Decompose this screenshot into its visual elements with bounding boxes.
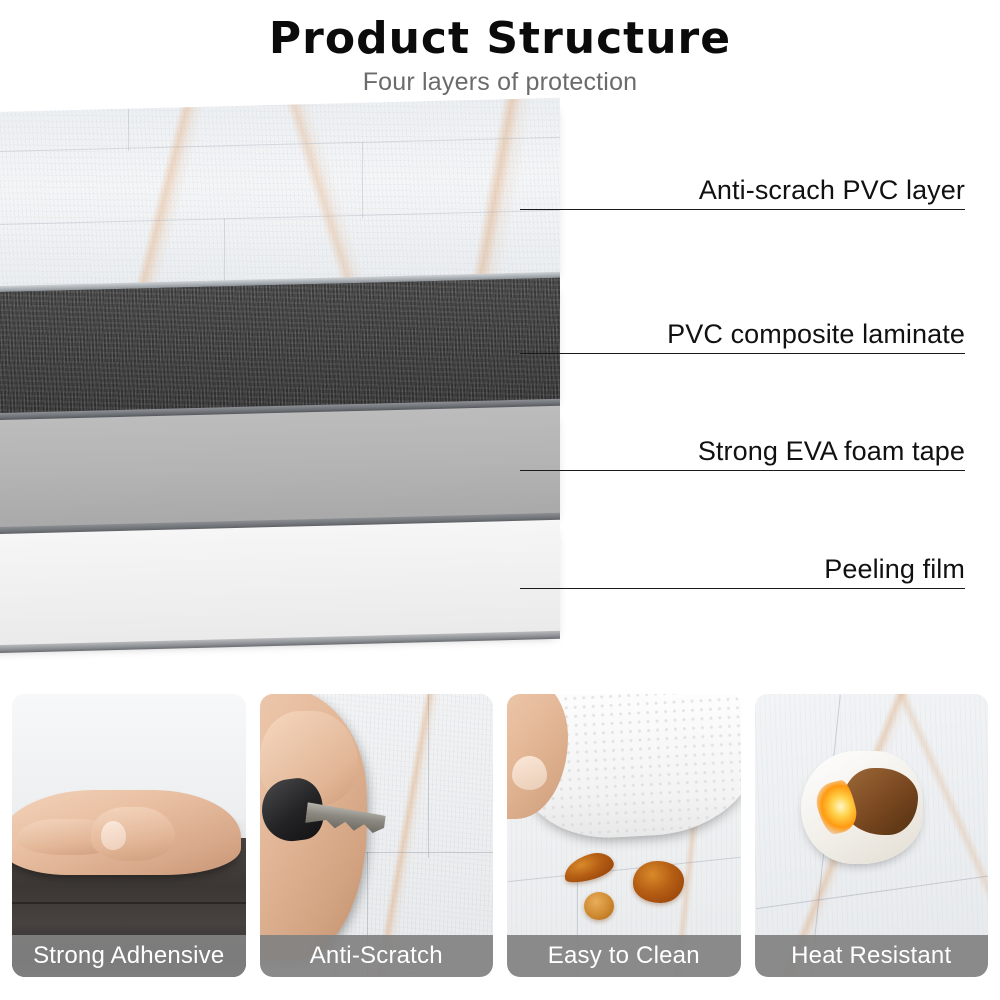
leader-line (520, 588, 965, 589)
feature-card-heat-resistant[interactable]: Heat Resistant (755, 694, 989, 977)
fingernail-shape (101, 821, 127, 849)
tile-seam (224, 218, 225, 281)
feature-caption-heat-resistant: Heat Resistant (755, 935, 989, 977)
tile-seam (0, 210, 560, 226)
feature-caption-easy-to-clean: Easy to Clean (507, 935, 741, 977)
callout-pvc-composite-laminate: PVC composite laminate (520, 353, 965, 354)
product-layer-stack-diagram: Anti-scrach PVC layer PVC composite lami… (0, 105, 1000, 680)
feature-card-easy-to-clean[interactable]: Easy to Clean (507, 694, 741, 977)
header: Product Structure Four layers of protect… (0, 0, 1000, 110)
layer-slab-peeling-film (0, 535, 560, 647)
callout-label-anti-scratch-pvc: Anti-scrach PVC layer (699, 175, 965, 206)
callout-label-eva-foam-tape: Strong EVA foam tape (698, 436, 965, 467)
page-title: Product Structure (0, 0, 1000, 62)
leader-line (520, 209, 965, 210)
feature-card-strong-adhensive[interactable]: Strong Adhensive (12, 694, 246, 977)
sauce-stain (561, 849, 617, 888)
fingernail-shape (512, 756, 547, 790)
layer-slab-eva-foam-tape (0, 421, 560, 529)
feature-caption-strong-adhensive: Strong Adhensive (12, 935, 246, 977)
layer-face-peeling-film (0, 520, 560, 647)
layer-slab-anti-scratch-pvc (0, 113, 560, 288)
burnt-paper-shape (843, 768, 918, 836)
feature-card-anti-scratch[interactable]: Anti-Scratch (260, 694, 494, 977)
layer-face-anti-scratch-pvc (0, 98, 560, 288)
layer-face-eva-foam-tape (0, 406, 560, 529)
sauce-stain (633, 861, 684, 903)
tile-seam (756, 876, 987, 909)
layer-slab-pvc-composite-laminate (0, 293, 560, 415)
callout-label-peeling-film: Peeling film (824, 554, 965, 585)
callout-peeling-film: Peeling film (520, 588, 965, 589)
callout-anti-scratch-pvc: Anti-scrach PVC layer (520, 209, 965, 210)
feature-caption-anti-scratch: Anti-Scratch (260, 935, 494, 977)
leader-line (520, 353, 965, 354)
tile-seam (362, 141, 363, 218)
page-subtitle: Four layers of protection (0, 62, 1000, 97)
feature-thumbnail-grid: Strong Adhensive Anti-Scratch Easy to Cl… (12, 694, 988, 977)
callout-eva-foam-tape: Strong EVA foam tape (520, 470, 965, 471)
tile-seam (508, 857, 740, 882)
tile-seam (428, 694, 429, 858)
leader-line (520, 470, 965, 471)
callout-label-pvc-composite-laminate: PVC composite laminate (667, 319, 965, 350)
layer-face-pvc-composite-laminate (0, 278, 560, 415)
sauce-stain (584, 892, 614, 920)
tile-seam (0, 136, 560, 152)
tile-seam (128, 109, 129, 151)
